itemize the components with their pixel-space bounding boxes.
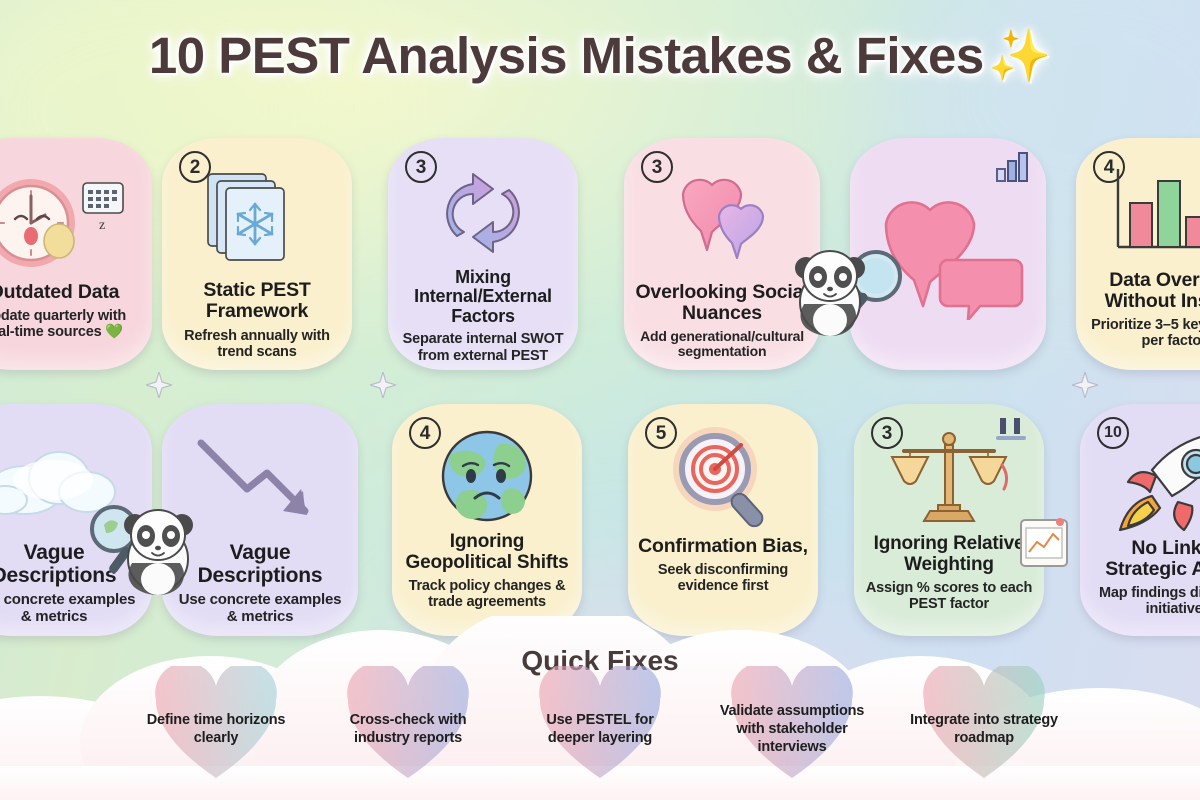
- panda-magnifier-row2: [86, 486, 208, 609]
- card-title: Ignoring Geopolitical Shifts: [402, 532, 572, 573]
- card-mixing-internal-external[interactable]: 3 Mixing Internal/External Factors: [388, 138, 578, 370]
- page-title: 10 PEST Analysis Mistakes & Fixes: [149, 26, 984, 85]
- card-row-1: z z: [0, 138, 1200, 388]
- card-title: Ignoring Relative Weighting: [864, 534, 1034, 575]
- card-no-link-strategic-action[interactable]: 10 No Link to Strategic Action Map findi…: [1080, 404, 1200, 636]
- recycle-arrows-icon: [398, 160, 568, 264]
- sparkle-right-icon: [1072, 372, 1098, 398]
- card-confirmation-bias[interactable]: 5 Confirmation Bias, Seek disconfirming …: [628, 404, 818, 636]
- target-magnifier-icon: [638, 426, 808, 532]
- card-title: Outdated Data: [0, 282, 119, 303]
- svg-text:z: z: [99, 218, 105, 233]
- card-subtitle: Assign % scores to each PEST factor: [864, 580, 1034, 612]
- quick-fix-label: Validate assumptions with stakeholder in…: [717, 703, 867, 756]
- card-static-pest-framework[interactable]: 2: [162, 138, 352, 370]
- card-subtitle: Add generational/cultural segmentation: [634, 329, 810, 360]
- sparkles-emoji-icon: ✨: [988, 26, 1051, 86]
- card-subtitle: Separate internal SWOT from external PES…: [398, 331, 568, 363]
- card-title: Data Overload Without Insight: [1086, 270, 1200, 312]
- quick-fix-item[interactable]: Cross-check with industry reports: [333, 676, 483, 784]
- card-data-overload[interactable]: 4 Data Overload Without Insight Prioriti…: [1076, 138, 1200, 370]
- card-ignoring-relative-weighting[interactable]: 3: [854, 404, 1044, 636]
- card-title: Static PEST Framework: [172, 280, 342, 322]
- card-title: Confirmation Bias,: [638, 536, 808, 557]
- sparkle-mid-icon: [370, 372, 396, 398]
- card-title: Overlooking Social Nuances: [634, 282, 810, 324]
- sad-earth-icon: [402, 426, 572, 528]
- card-subtitle: Track policy changes & trade agreements: [402, 578, 572, 610]
- frozen-documents-icon: [172, 160, 342, 276]
- quick-fix-label: Use PESTEL for deeper layering: [525, 712, 675, 747]
- card-title: Mixing Internal/External Factors: [398, 268, 568, 326]
- card-title: No Link to Strategic Action: [1090, 538, 1200, 580]
- quick-fixes-list: Define time horizons clearly Cross-check…: [0, 676, 1200, 786]
- balance-scale-icon: [864, 426, 1034, 530]
- quick-fix-item[interactable]: Integrate into strategy roadmap: [909, 676, 1059, 784]
- card-ignoring-geopolitical-shifts[interactable]: 4 Ignoring Geopolitical Shifts Track pol…: [392, 404, 582, 636]
- chart-sticky-note-icon: [1018, 516, 1070, 575]
- card-subtitle: Update quarterly with real-time sources …: [0, 308, 142, 340]
- quick-fix-item[interactable]: Validate assumptions with stakeholder in…: [717, 676, 867, 784]
- sleeping-clock-icon: z z: [0, 160, 142, 278]
- quick-fix-label: Integrate into strategy roadmap: [909, 712, 1059, 747]
- quick-fix-item[interactable]: Use PESTEL for deeper layering: [525, 676, 675, 784]
- quick-fix-label: Define time horizons clearly: [141, 712, 291, 747]
- card-subtitle: Map findings directly to initiatives: [1090, 585, 1200, 617]
- quick-fix-item[interactable]: Define time horizons clearly: [141, 676, 291, 784]
- panda-magnifier-row1: [790, 232, 912, 349]
- sparkle-left-icon: [146, 372, 172, 398]
- infographic-canvas: 10 PEST Analysis Mistakes & Fixes ✨ z z: [0, 0, 1200, 800]
- bar-chart-art-icon: [1086, 160, 1200, 266]
- card-subtitle: Prioritize 3–5 key drivers per factor: [1086, 317, 1200, 349]
- quick-fix-label: Cross-check with industry reports: [333, 712, 483, 747]
- card-subtitle: Seek disconfirming evidence first: [638, 562, 808, 594]
- card-outdated-data[interactable]: z z: [0, 138, 152, 370]
- rocket-icon: [1090, 426, 1200, 534]
- card-subtitle: Refresh annually with trend scans: [172, 328, 342, 360]
- page-title-wrap: 10 PEST Analysis Mistakes & Fixes ✨: [0, 26, 1200, 86]
- speech-hearts-icon: [634, 160, 810, 278]
